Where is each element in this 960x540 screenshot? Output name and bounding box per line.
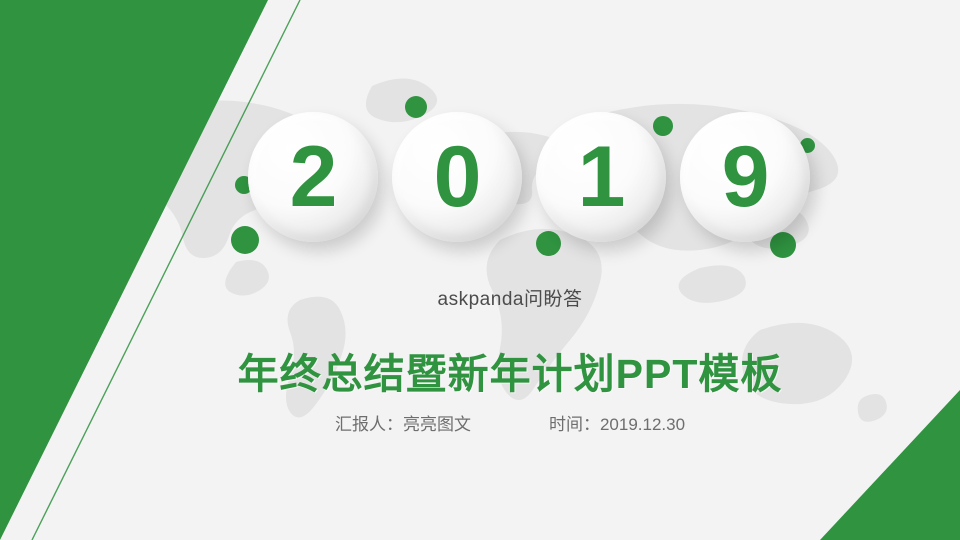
year-digit-1: 2 bbox=[290, 134, 337, 220]
meta-row: 汇报人：亮亮图文 时间：2019.12.30 bbox=[0, 410, 960, 435]
year-digit-3: 1 bbox=[578, 134, 625, 220]
page-title: 年终总结暨新年计划PPT模板 bbox=[0, 340, 960, 400]
presenter-label: 汇报人：亮亮图文 bbox=[335, 410, 471, 435]
date-label: 时间：2019.12.30 bbox=[549, 410, 685, 435]
year-digit-circle-1: 2 bbox=[248, 112, 378, 242]
subtitle: askpanda问盼答 bbox=[0, 284, 960, 311]
year-digit-circle-4: 9 bbox=[680, 112, 810, 242]
slide-canvas: 2 0 1 9 askpanda问盼答 年终总结暨新年计划PPT模板 汇报人：亮… bbox=[0, 0, 960, 540]
year-digit-2: 0 bbox=[434, 134, 481, 220]
diagonal-hairline bbox=[0, 0, 420, 540]
year-digit-4: 9 bbox=[722, 134, 769, 220]
year-digit-circle-2: 0 bbox=[392, 112, 522, 242]
year-circles: 2 0 1 9 bbox=[248, 112, 810, 242]
year-digit-circle-3: 1 bbox=[536, 112, 666, 242]
